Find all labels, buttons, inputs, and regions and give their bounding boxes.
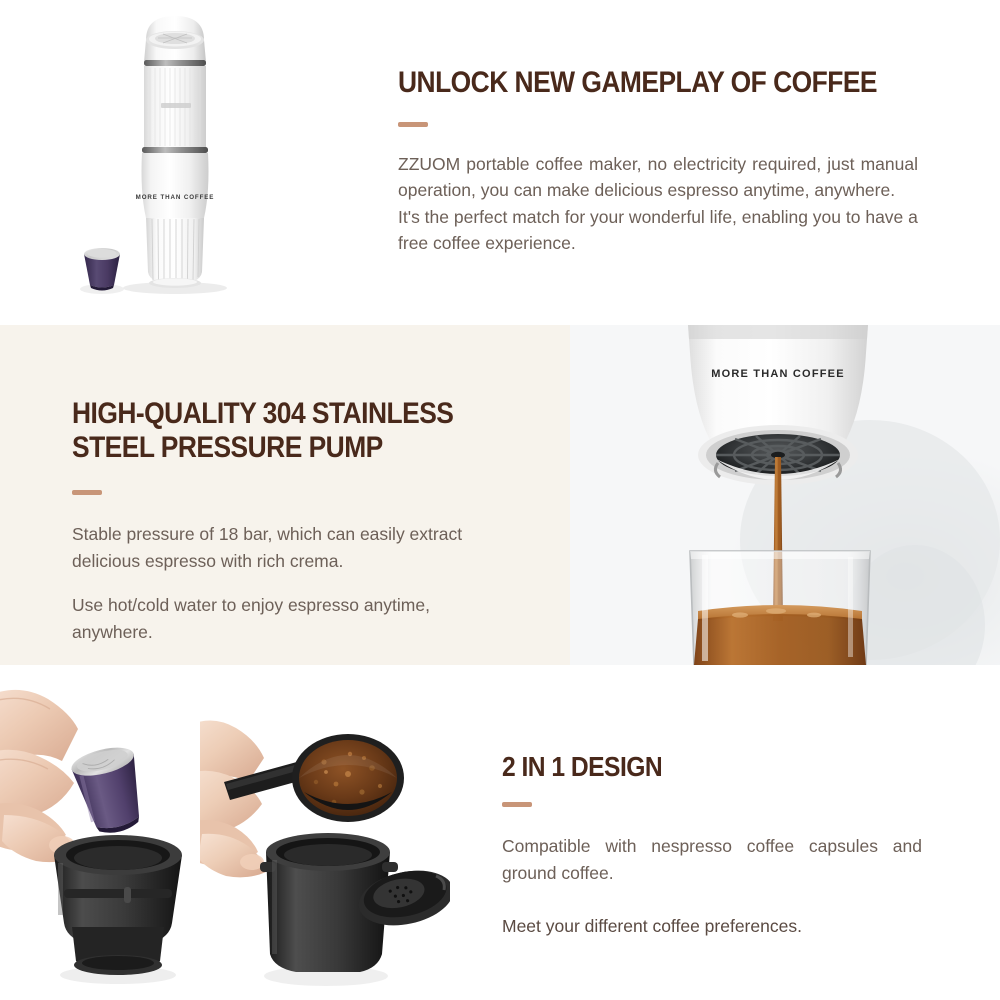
hand-holding-capsule [0,690,78,862]
espresso-pour-illustration: MORE THAN COFFEE [570,325,1000,665]
capsule-holder [54,835,182,984]
section3-heading: 2 IN 1 DESIGN [502,751,872,782]
section2-paragraphs: Stable pressure of 18 bar, which can eas… [72,521,512,645]
section2-text-block: HIGH-QUALITY 304 STAINLESS STEEL PRESSUR… [72,397,512,646]
section3-text-block: 2 IN 1 DESIGN Compatible with nespresso … [502,751,922,939]
section1-paragraph-1: ZZUOM portable coffee maker, no electric… [398,151,918,204]
ground-coffee-scoop-photo [200,700,450,1000]
section3-paragraph-2: Meet your different coffee preferences. [502,913,922,940]
section2-accent-dash [72,490,102,495]
section-unlock-new-gameplay: MORE THAN COFFEE [0,0,1000,325]
section2-paragraph-2: Use hot/cold water to enjoy espresso any… [72,592,512,645]
coffee-scoop-bowl [292,734,404,822]
section-2-in-1-design: 2 IN 1 DESIGN Compatible with nespresso … [0,665,1000,1000]
section1-heading: UNLOCK NEW GAMEPLAY OF COFFEE [398,66,856,100]
product-label-text-head: MORE THAN COFFEE [711,368,844,380]
product-label-text-hero: MORE THAN COFFEE [136,194,215,201]
purple-capsule [69,742,151,839]
section-stainless-steel-pump: HIGH-QUALITY 304 STAINLESS STEEL PRESSUR… [0,325,1000,665]
section2-paragraph-1: Stable pressure of 18 bar, which can eas… [72,521,512,574]
hand-scoop-illustration [200,700,450,1000]
section3-accent-dash [502,802,532,807]
section1-accent-dash [398,122,428,127]
product-hero-photo: MORE THAN COFFEE [60,0,360,325]
coffee-maker-illustration: MORE THAN COFFEE [60,0,360,325]
section2-heading: HIGH-QUALITY 304 STAINLESS STEEL PRESSUR… [72,397,459,464]
section1-text-block: UNLOCK NEW GAMEPLAY OF COFFEE ZZUOM port… [398,66,918,257]
coffee-capsule-illustration [80,248,124,294]
section3-paragraph-1: Compatible with nespresso coffee capsule… [502,833,922,886]
product-infographic: MORE THAN COFFEE [0,0,1000,1000]
section1-paragraphs: ZZUOM portable coffee maker, no electric… [398,151,918,257]
section3-paragraphs: Compatible with nespresso coffee capsule… [502,833,922,939]
espresso-pouring-photo: MORE THAN COFFEE [570,325,1000,665]
section1-paragraph-2: It's the perfect match for your wonderfu… [398,204,918,257]
